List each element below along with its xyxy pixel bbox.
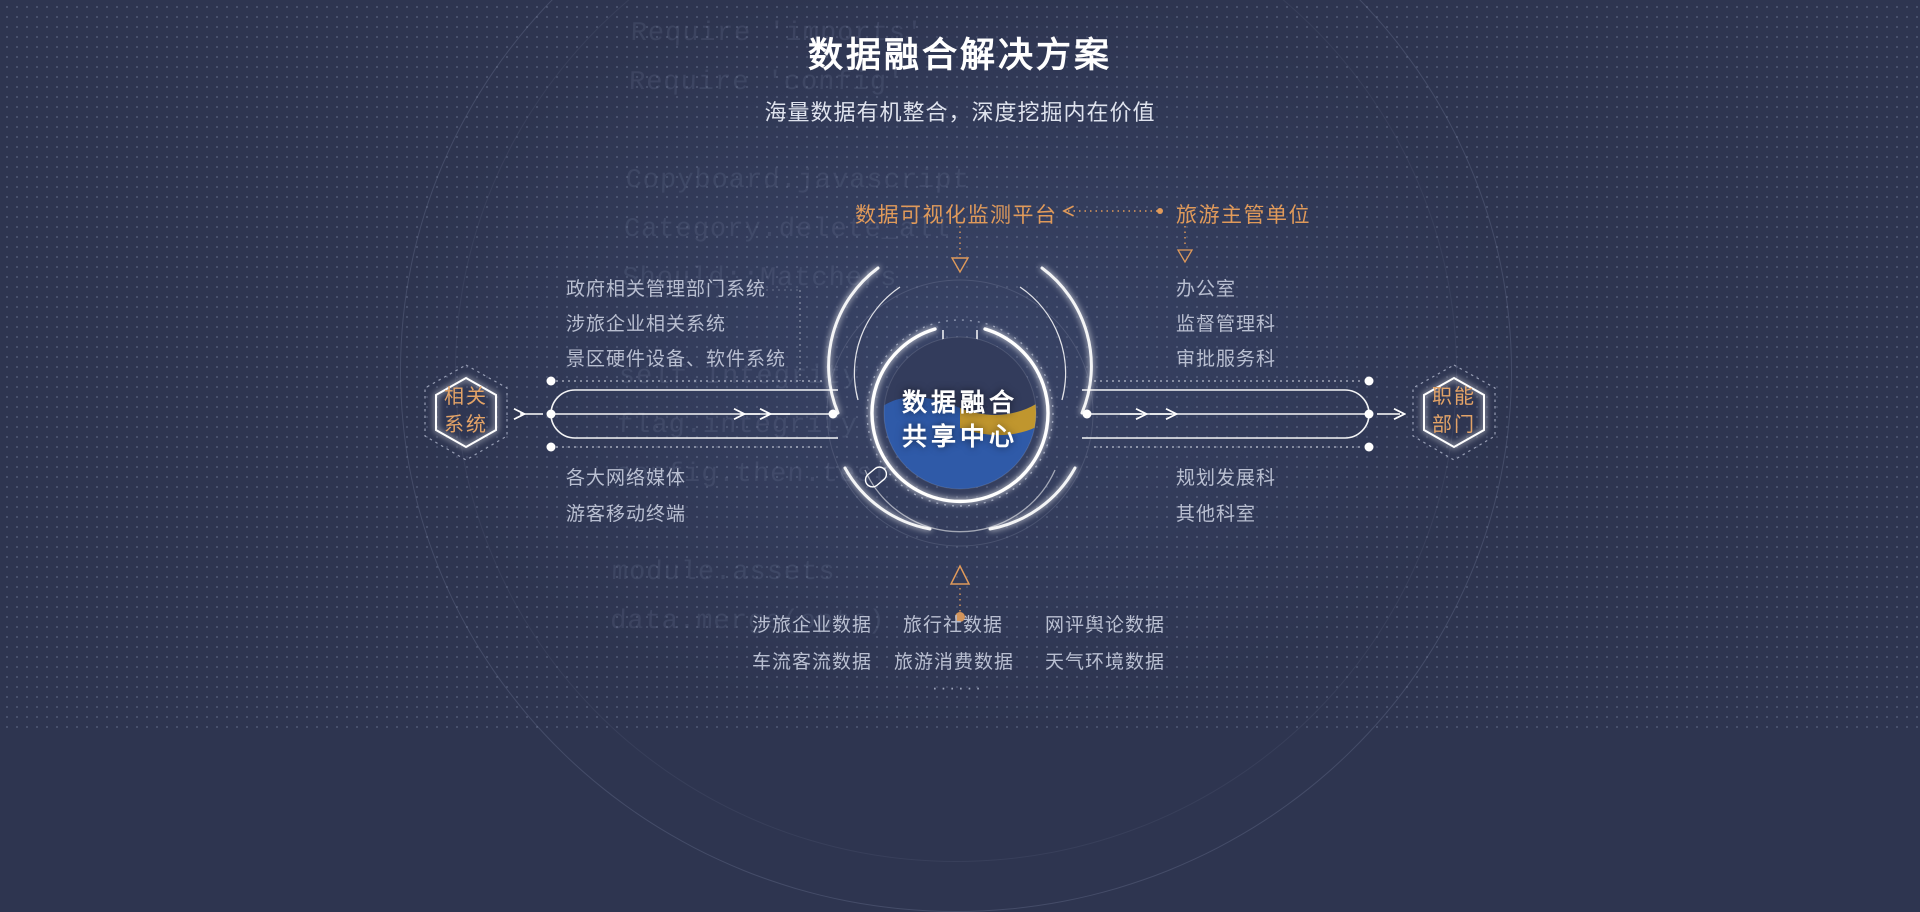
page-title: 数据融合解决方案 bbox=[0, 34, 1920, 78]
bottom-item-r2c1[interactable]: 车流客流数据 bbox=[752, 647, 872, 674]
hexagon-left-label[interactable]: 相关 系统 bbox=[406, 383, 526, 439]
page-subtitle: 海量数据有机整合，深度挖掘内在价值 bbox=[0, 95, 1920, 127]
right-lower-item-2[interactable]: 其他科室 bbox=[1176, 499, 1256, 526]
right-connector bbox=[1082, 377, 1400, 452]
right-upper-item-3[interactable]: 审批服务科 bbox=[1176, 344, 1276, 371]
hexagon-left-line2: 系统 bbox=[406, 411, 526, 439]
hexagon-right-line2: 部门 bbox=[1394, 411, 1514, 439]
right-upper-item-2[interactable]: 监督管理科 bbox=[1176, 309, 1276, 336]
bottom-more-indicator: ······ bbox=[932, 678, 984, 698]
bottom-item-r1c2[interactable]: 旅行社数据 bbox=[903, 610, 1003, 637]
left-lower-item-1[interactable]: 各大网络媒体 bbox=[566, 463, 686, 490]
right-upper-item-1[interactable]: 办公室 bbox=[1176, 274, 1236, 301]
bottom-item-r1c1[interactable]: 涉旅企业数据 bbox=[752, 610, 872, 637]
hexagon-right-line1: 职能 bbox=[1394, 383, 1514, 411]
hexagon-right-label[interactable]: 职能 部门 bbox=[1394, 383, 1514, 439]
left-lower-item-2[interactable]: 游客移动终端 bbox=[566, 499, 686, 526]
bottom-item-r1c3[interactable]: 网评舆论数据 bbox=[1045, 610, 1165, 637]
label-tourism-authority[interactable]: 旅游主管单位 bbox=[1176, 199, 1311, 229]
center-label: 数据融合 共享中心 bbox=[810, 386, 1110, 454]
center-label-line1: 数据融合 bbox=[810, 386, 1110, 420]
bottom-item-r2c2[interactable]: 旅游消费数据 bbox=[894, 647, 1014, 674]
center-label-line2: 共享中心 bbox=[810, 420, 1110, 454]
page-header: 数据融合解决方案 海量数据有机整合，深度挖掘内在价值 bbox=[0, 34, 1920, 127]
left-upper-item-2[interactable]: 涉旅企业相关系统 bbox=[566, 309, 726, 336]
left-upper-item-3[interactable]: 景区硬件设备、软件系统 bbox=[566, 344, 786, 371]
left-upper-item-1[interactable]: 政府相关管理部门系统 bbox=[566, 274, 766, 301]
right-lower-item-1[interactable]: 规划发展科 bbox=[1176, 463, 1276, 490]
hexagon-left-line1: 相关 bbox=[406, 383, 526, 411]
label-visualization-platform[interactable]: 数据可视化监测平台 bbox=[855, 199, 1058, 229]
bottom-item-r2c3[interactable]: 天气环境数据 bbox=[1045, 647, 1165, 674]
